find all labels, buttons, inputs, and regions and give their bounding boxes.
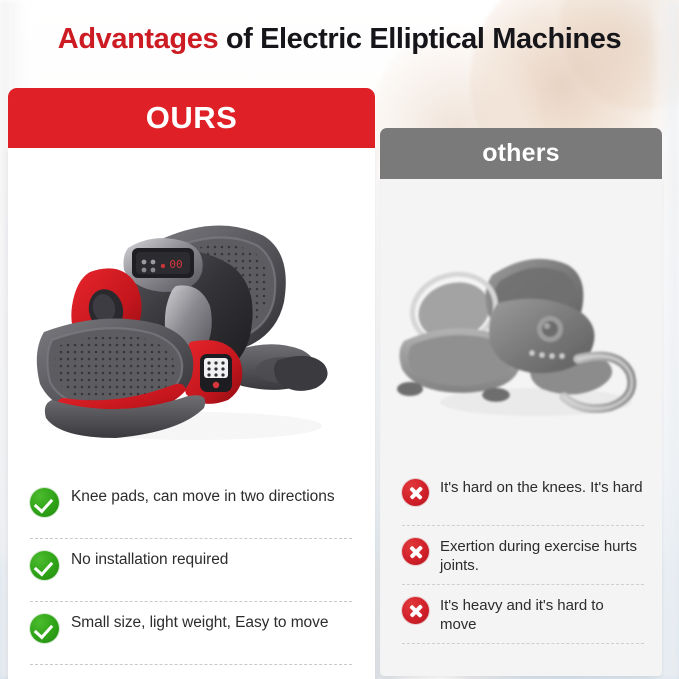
others-body-panel: It's hard on the knees. It's hard Exerti… (380, 179, 662, 676)
svg-text:00: 00 (169, 258, 182, 271)
others-header-banner: others (380, 128, 662, 179)
list-item: Small size, light weight, Easy to move (30, 602, 352, 664)
list-item-label: It's hard on the knees. It's hard (440, 476, 643, 497)
ours-feature-list: Knee pads, can move in two directions No… (30, 476, 352, 665)
ours-body-panel: 00 (8, 148, 375, 679)
ours-column: OURS (8, 88, 375, 679)
comparison-infographic: Advantages of Electric Elliptical Machin… (0, 0, 679, 679)
x-circle-icon (402, 538, 429, 565)
list-item: No installation required (30, 539, 352, 601)
gray-elliptical-illustration (386, 237, 658, 437)
page-title-accent: Advantages (58, 23, 218, 55)
others-feature-list: It's hard on the knees. It's hard Exerti… (402, 467, 644, 644)
list-item-label: Exertion during exercise hurts joints. (440, 535, 644, 575)
check-circle-icon (30, 614, 59, 643)
ours-product-image: 00 (24, 210, 360, 450)
list-item-label: It's heavy and it's hard to move (440, 594, 644, 634)
list-item-label: Small size, light weight, Easy to move (71, 611, 328, 633)
list-item-label: Knee pads, can move in two directions (71, 485, 335, 507)
others-product-image (386, 237, 658, 437)
list-item-label: No installation required (71, 548, 228, 570)
list-item: It's hard on the knees. It's hard (402, 467, 644, 525)
x-circle-icon (402, 597, 429, 624)
ours-header-banner: OURS (8, 88, 375, 148)
page-title: Advantages of Electric Elliptical Machin… (0, 22, 679, 56)
ours-header-label: OURS (146, 100, 238, 136)
others-column: others (380, 128, 662, 676)
divider (402, 643, 644, 644)
check-circle-icon (30, 551, 59, 580)
list-item: Knee pads, can move in two directions (30, 476, 352, 538)
check-circle-icon (30, 488, 59, 517)
list-item: Exertion during exercise hurts joints. (402, 526, 644, 584)
others-header-label: others (482, 139, 560, 168)
divider (30, 664, 352, 665)
list-item: It's heavy and it's hard to move (402, 585, 644, 643)
x-circle-icon (402, 479, 429, 506)
red-elliptical-illustration: 00 (24, 210, 360, 450)
page-title-rest: of Electric Elliptical Machines (218, 23, 621, 55)
